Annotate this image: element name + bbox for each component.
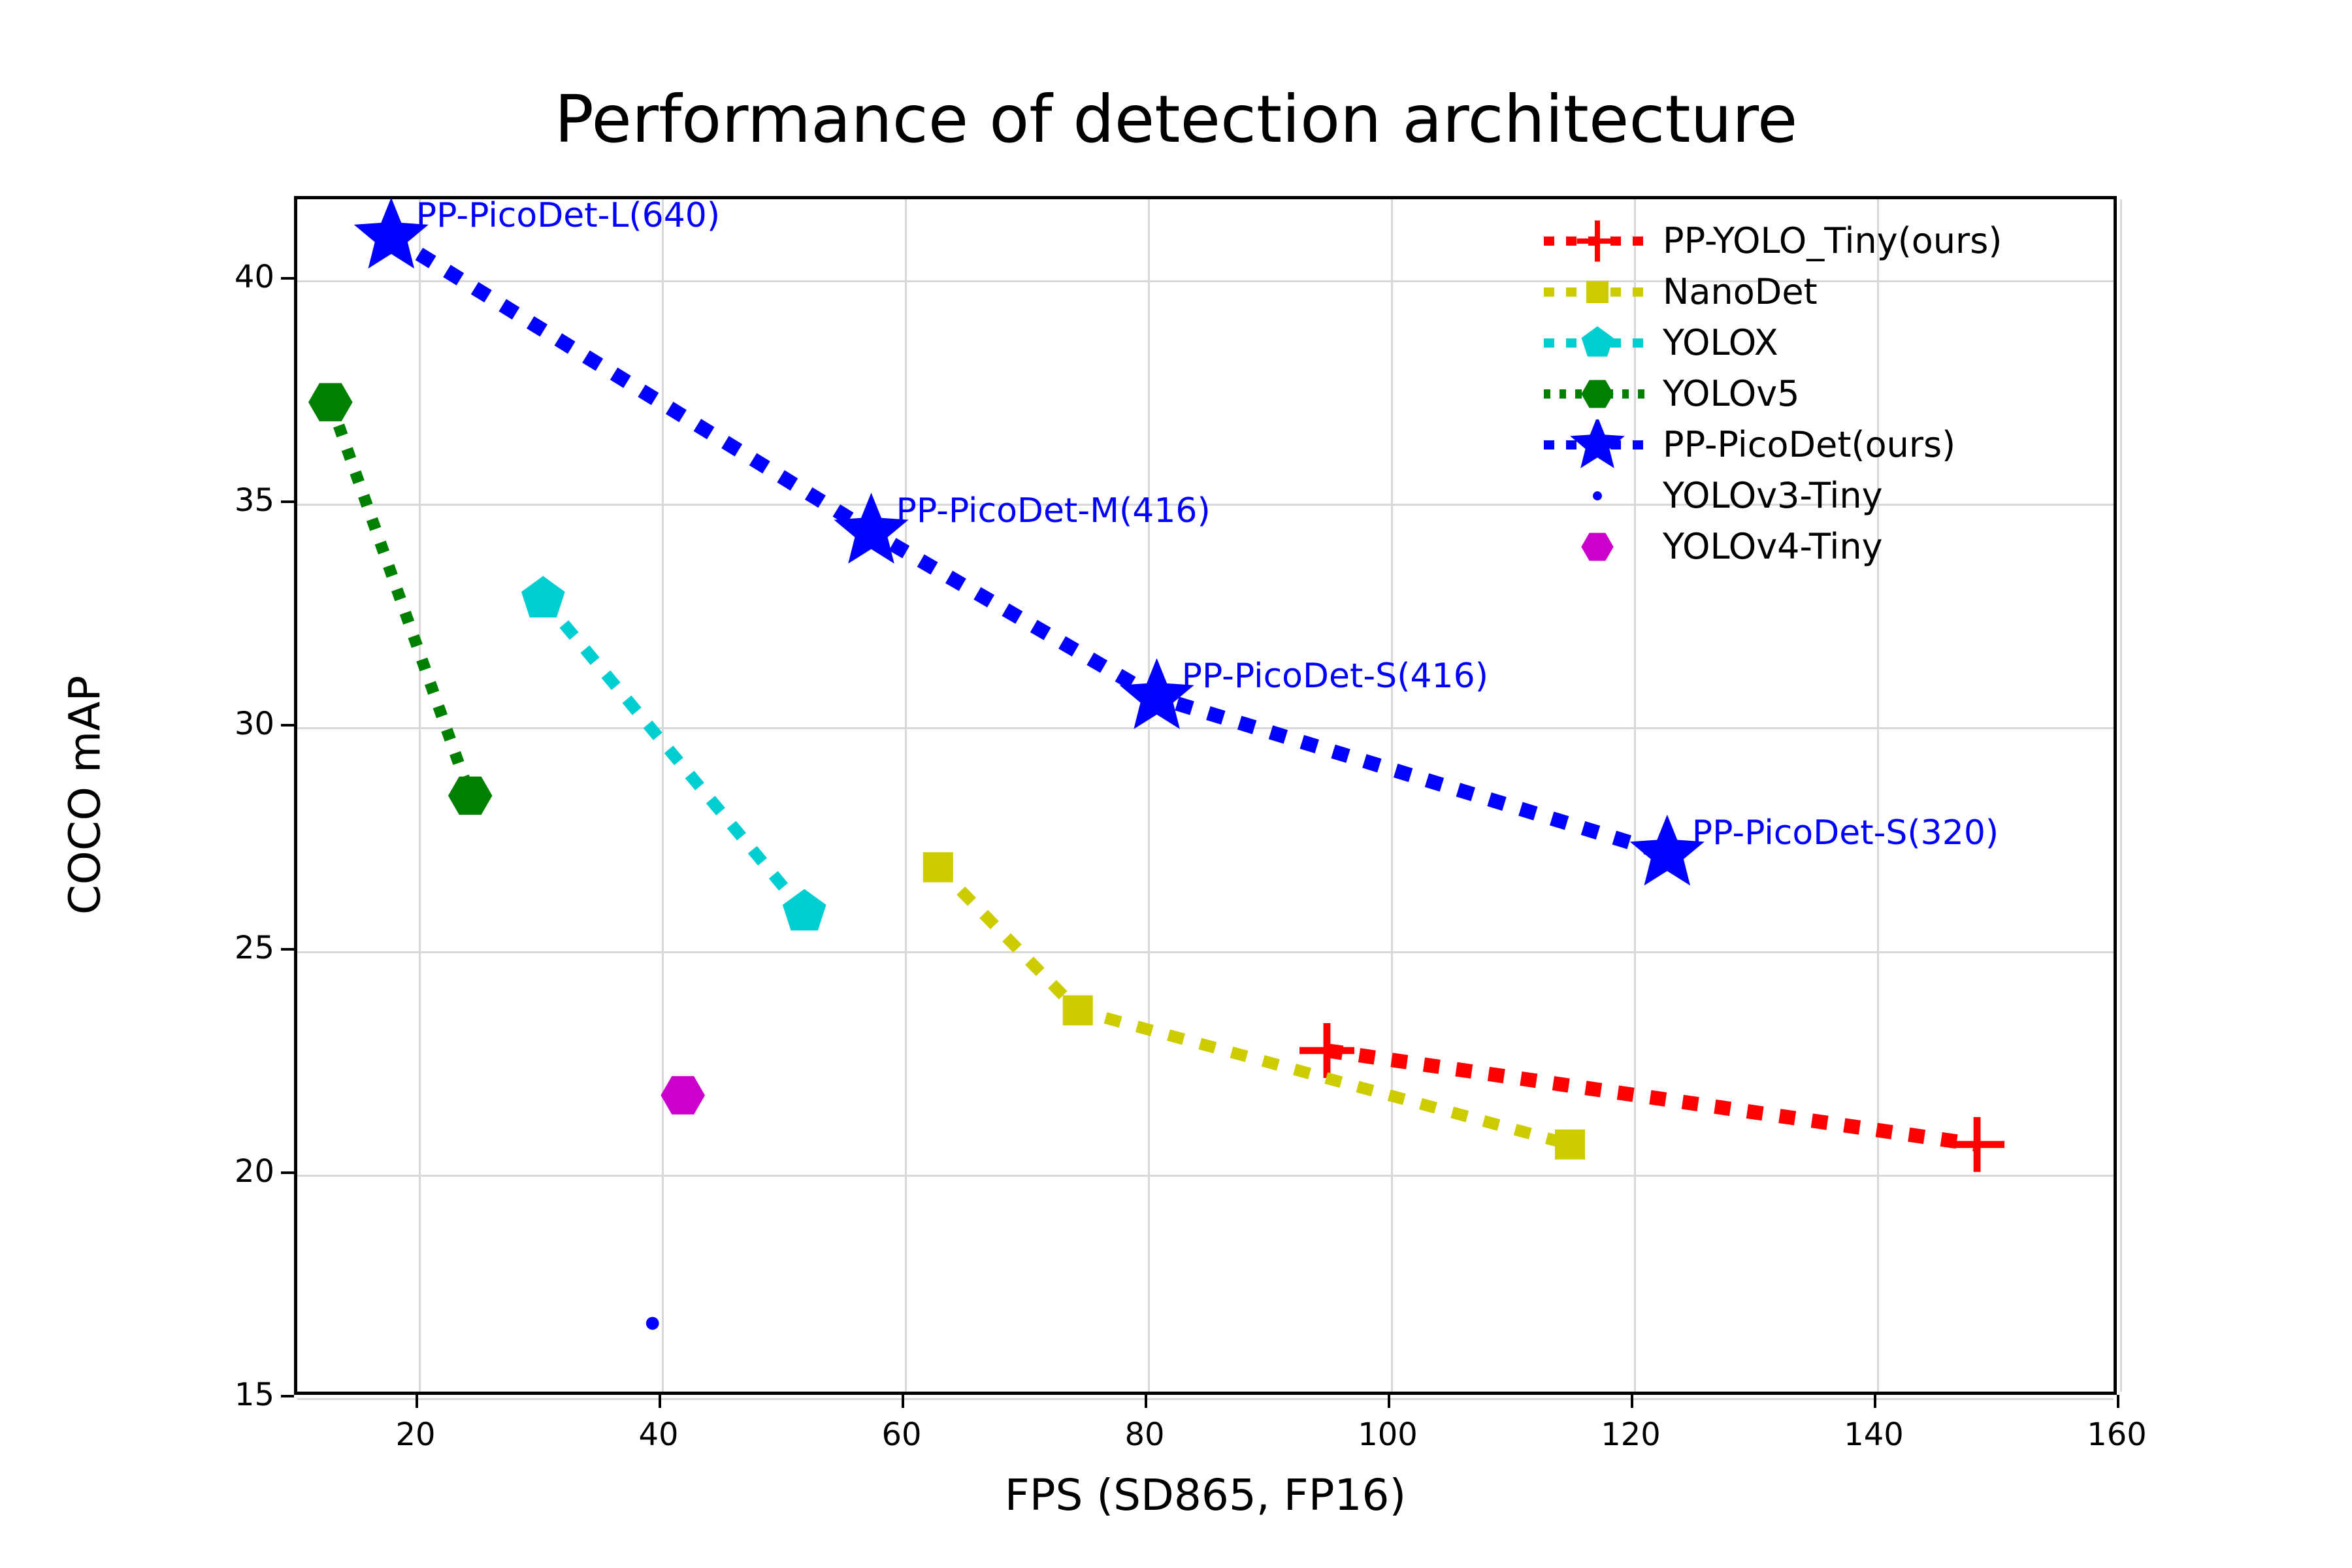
plus-marker-icon: [1532, 216, 1663, 267]
legend-marker: [1581, 533, 1613, 561]
y-tick-label: 25: [235, 930, 274, 966]
y-tick-mark: [281, 277, 294, 280]
x-tick-mark: [2117, 1395, 2119, 1408]
legend-item-label: YOLOv5: [1663, 376, 1800, 412]
point-annotation-2: PP-PicoDet-M(416): [896, 491, 1211, 531]
y-tick-label: 15: [235, 1377, 274, 1413]
legend-marker: [1577, 221, 1618, 262]
legend-item-label: YOLOX: [1663, 325, 1778, 361]
point-annotation-1: PP-PicoDet-L(640): [416, 196, 720, 235]
y-tick-mark: [281, 1395, 294, 1397]
x-tick-label: 20: [395, 1416, 435, 1453]
y-tick-mark: [281, 948, 294, 951]
x-tick-mark: [902, 1395, 904, 1408]
chart-figure: Performance of detection architecture 20…: [0, 0, 2352, 1568]
legend-item-label: PP-YOLO_Tiny(ours): [1663, 223, 2002, 259]
hexagon-marker-icon: [1532, 521, 1663, 572]
legend-item-pp-picodet-ours-[interactable]: PP-PicoDet(ours): [1532, 419, 2055, 470]
star-marker-icon: [1532, 419, 1663, 470]
x-tick-mark: [1874, 1395, 1876, 1408]
y-tick-label: 20: [235, 1153, 274, 1190]
x-tick-mark: [416, 1395, 418, 1408]
gridline-horizontal: [297, 727, 2114, 729]
x-tick-label: 120: [1601, 1416, 1661, 1453]
y-tick-label: 35: [235, 482, 274, 519]
legend: PP-YOLO_Tiny(ours)NanoDetYOLOXYOLOv5PP-P…: [1532, 216, 2055, 572]
gridline-vertical: [905, 199, 907, 1392]
gridline-vertical: [662, 199, 664, 1392]
x-axis-label: FPS (SD865, FP16): [294, 1470, 2117, 1520]
legend-item-yolox[interactable]: YOLOX: [1532, 318, 2055, 368]
page-title: Performance of detection architecture: [0, 85, 2352, 154]
y-tick-mark: [281, 724, 294, 727]
legend-item-yolov4-tiny[interactable]: YOLOv4-Tiny: [1532, 521, 2055, 572]
gridline-vertical: [1148, 199, 1150, 1392]
x-tick-mark: [1145, 1395, 1147, 1408]
x-tick-label: 140: [1844, 1416, 1904, 1453]
y-tick-label: 30: [235, 706, 274, 742]
legend-marker: [1586, 281, 1609, 303]
gridline-horizontal: [297, 951, 2114, 953]
x-tick-label: 160: [2087, 1416, 2147, 1453]
y-tick-label: 40: [235, 259, 274, 295]
gridline-horizontal: [297, 1398, 2114, 1400]
pentagon-marker-icon: [1532, 318, 1663, 368]
gridline-horizontal: [297, 1175, 2114, 1177]
gridline-vertical: [419, 199, 421, 1392]
legend-item-label: PP-PicoDet(ours): [1663, 427, 1955, 463]
x-tick-mark: [1631, 1395, 1633, 1408]
y-axis-label: COCO mAP: [60, 676, 110, 915]
x-tick-label: 80: [1124, 1416, 1164, 1453]
legend-item-nanodet[interactable]: NanoDet: [1532, 267, 2055, 318]
hexagon-marker-icon: [1532, 368, 1663, 419]
legend-item-label: NanoDet: [1663, 274, 1818, 310]
y-tick-mark: [281, 1171, 294, 1174]
gridline-vertical: [1391, 199, 1393, 1392]
square-marker-icon: [1532, 267, 1663, 318]
legend-item-label: YOLOv4-Tiny: [1663, 529, 1883, 564]
x-tick-mark: [1388, 1395, 1390, 1408]
gridline-vertical: [2120, 199, 2122, 1392]
circle-marker-icon: [1532, 470, 1663, 521]
point-annotation-4: PP-PicoDet-S(320): [1692, 813, 1999, 853]
legend-item-pp-yolo-tiny-ours-[interactable]: PP-YOLO_Tiny(ours): [1532, 216, 2055, 267]
y-tick-mark: [281, 500, 294, 503]
x-tick-label: 100: [1358, 1416, 1418, 1453]
legend-marker: [1593, 491, 1602, 500]
point-annotation-3: PP-PicoDet-S(416): [1182, 657, 1488, 696]
x-tick-label: 60: [881, 1416, 921, 1453]
legend-item-yolov5[interactable]: YOLOv5: [1532, 368, 2055, 419]
legend-item-yolov3-tiny[interactable]: YOLOv3-Tiny: [1532, 470, 2055, 521]
legend-marker: [1582, 326, 1614, 356]
x-tick-label: 40: [638, 1416, 678, 1453]
x-tick-mark: [659, 1395, 661, 1408]
legend-marker: [1581, 380, 1613, 408]
legend-item-label: YOLOv3-Tiny: [1663, 478, 1883, 514]
